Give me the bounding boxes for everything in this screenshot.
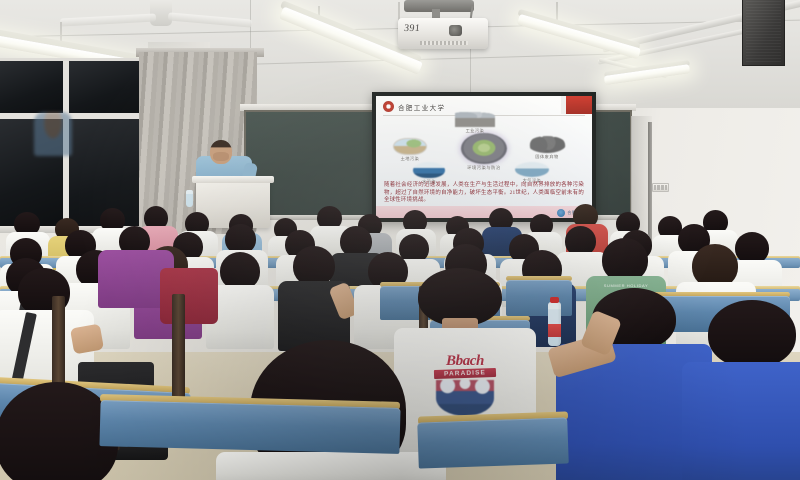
projector-room-label: 391 [403,23,420,34]
lecture-hall-photo: 391 合肥工业大学 [0,0,800,480]
tee-text-line2: PARADISE [444,369,486,377]
tee-text-line1: Bbach [429,354,501,368]
tee-graphic: Bbach PARADISE [429,354,501,416]
diagram-node-waste: 固体废弃物 [526,136,568,160]
slide-diagram: 环境污染与防治 工业污染 土地污染 固体废弃物 水污染 [376,116,592,178]
factory-icon [455,112,495,127]
bottle-cap-icon [550,297,559,303]
node-caption: 工业污染 [452,128,498,134]
slide-university-logo: 合肥工业大学 [383,101,445,112]
person-through-window [34,112,72,156]
green-tee-text: SUMMER HOLIDAY [604,283,649,288]
projector-lens-icon [449,25,462,36]
solid-waste-icon [528,136,566,153]
slide-accent-bar [566,96,592,114]
slide-body-text: 随着社会经济的迅速发展，人类在生产与生活过程中，向自然界排放的各种污染物，超过了… [384,182,584,205]
projector-vent [420,41,468,45]
podium-water-bottle [186,190,193,207]
node-caption: 固体废弃物 [526,154,568,160]
seat-back [417,417,569,468]
foreground-torso [216,452,446,480]
light-switch-panel[interactable] [652,183,669,192]
wall-speaker-right [742,0,785,66]
diagram-node-air: 大气污染 [512,162,552,184]
diagram-core-icon [461,133,507,164]
landscape-icon [393,138,427,155]
slide-accent-bar [561,96,566,114]
projection-screen: 合肥工业大学 环境污染与防治 工业污染 土地污染 固体废弃物 [372,92,596,222]
bottle-label [548,324,561,337]
seat-back [506,280,572,316]
university-seal-icon [383,101,394,112]
desk-water-bottle [548,302,561,346]
diagram-node-land: 土地污染 [390,138,430,162]
water-pollution-icon [413,162,445,178]
badge-dot-icon [557,209,565,217]
diagram-core-caption: 环境污染与防治 [467,165,501,171]
seat-back [99,400,400,454]
diagram-node-factory: 工业污染 [452,112,498,134]
tee-banner: PARADISE [434,368,496,379]
slide-logo-text: 合肥工业大学 [398,102,445,112]
air-pollution-icon [515,162,549,177]
podium-surface [192,176,274,183]
palm-tree-graphic-icon [436,380,494,416]
